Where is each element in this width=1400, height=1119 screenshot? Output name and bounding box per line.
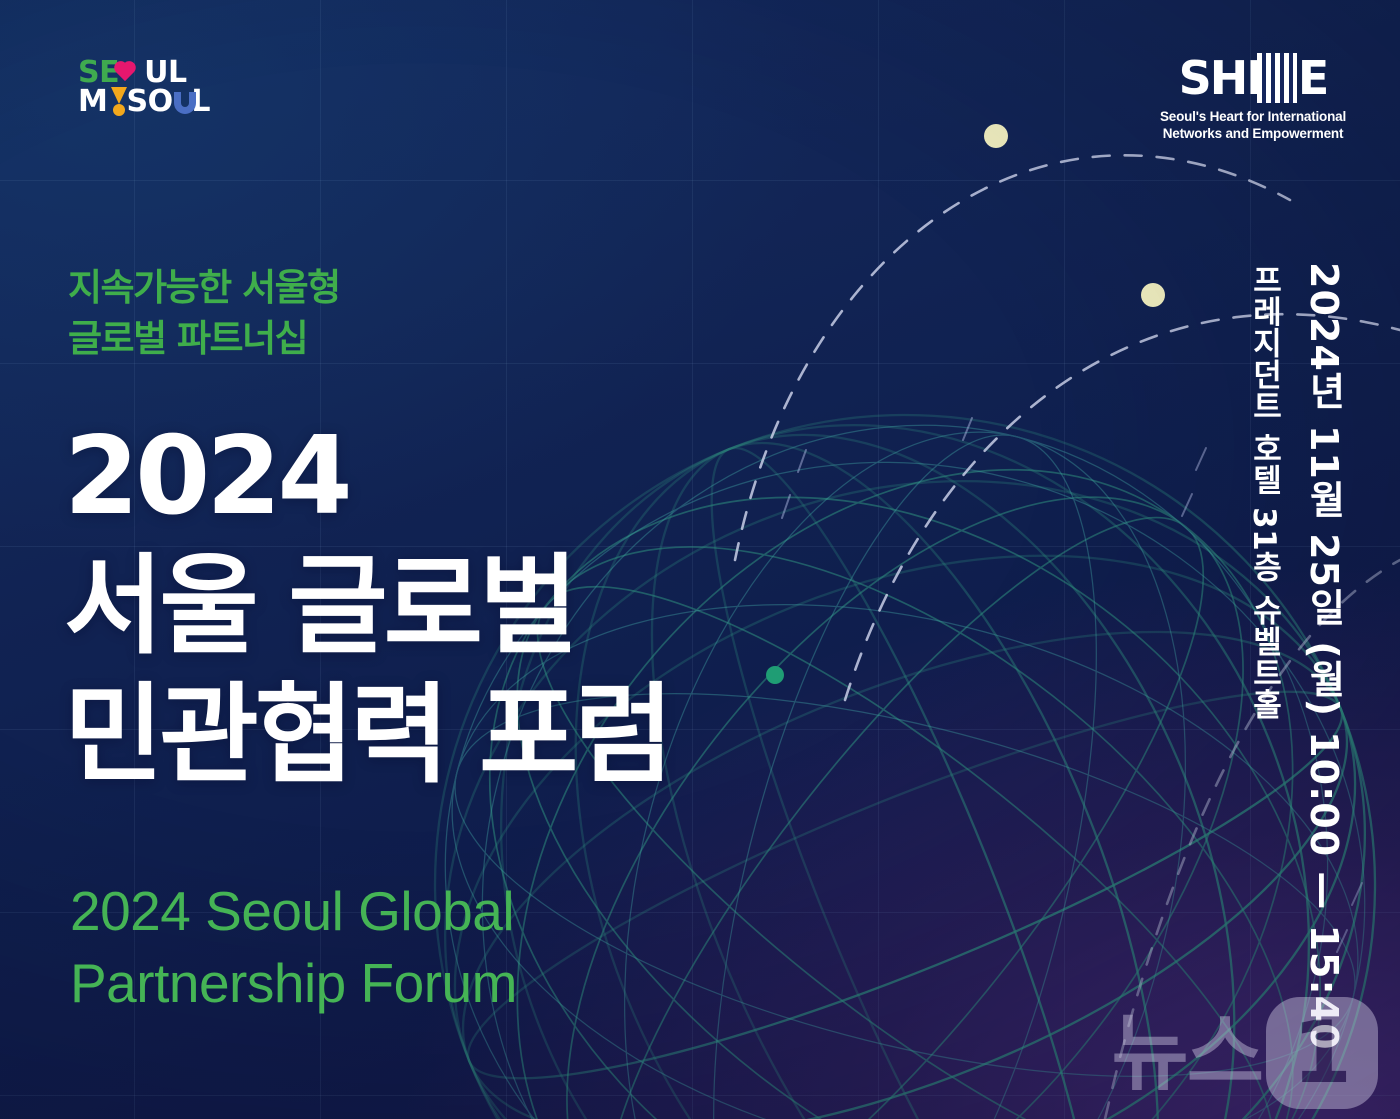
arc-dot <box>984 124 1008 148</box>
poster-canvas: SE UL M SO L SHINE Seoul's Heart for Int… <box>0 0 1400 1119</box>
event-datetime: 2024년 11월 25일 (월) 10:00 — 15:40 <box>1297 262 1352 1051</box>
page-title: 2024 서울 글로벌 민관협력 포럼 <box>64 412 670 801</box>
shine-wordmark: SHINE <box>1179 51 1328 105</box>
shine-wordmark-wrap: SHINE <box>1179 55 1328 101</box>
heart-icon <box>119 60 144 87</box>
sms-m-text: M <box>78 90 107 115</box>
sms-logo-line1: SE UL <box>78 60 210 86</box>
event-venue: 프레지던트 호텔 31층 슈벨트홀 <box>1242 264 1287 720</box>
sms-u-glyph <box>173 86 192 116</box>
shine-tagline-line2: Networks and Empowerment <box>1158 125 1348 142</box>
exclamation-icon <box>108 86 125 116</box>
seoul-my-soul-logo: SE UL M SO L <box>78 60 210 115</box>
sms-so-text: SO <box>127 90 173 115</box>
globe-node <box>766 666 784 684</box>
sms-ul-text: UL <box>144 61 186 86</box>
arc-dot <box>1141 283 1165 307</box>
sms-se-text: SE <box>78 61 119 86</box>
kicker-text: 지속가능한 서울형 글로벌 파트너십 <box>68 262 340 364</box>
sms-logo-line2: M SO L <box>78 86 210 115</box>
shine-tagline: Seoul's Heart for International Networks… <box>1158 108 1348 143</box>
english-title: 2024 Seoul Global Partnership Forum <box>70 876 517 1019</box>
shine-logo: SHINE Seoul's Heart for International Ne… <box>1158 55 1348 143</box>
shine-tagline-line1: Seoul's Heart for International <box>1158 108 1348 125</box>
